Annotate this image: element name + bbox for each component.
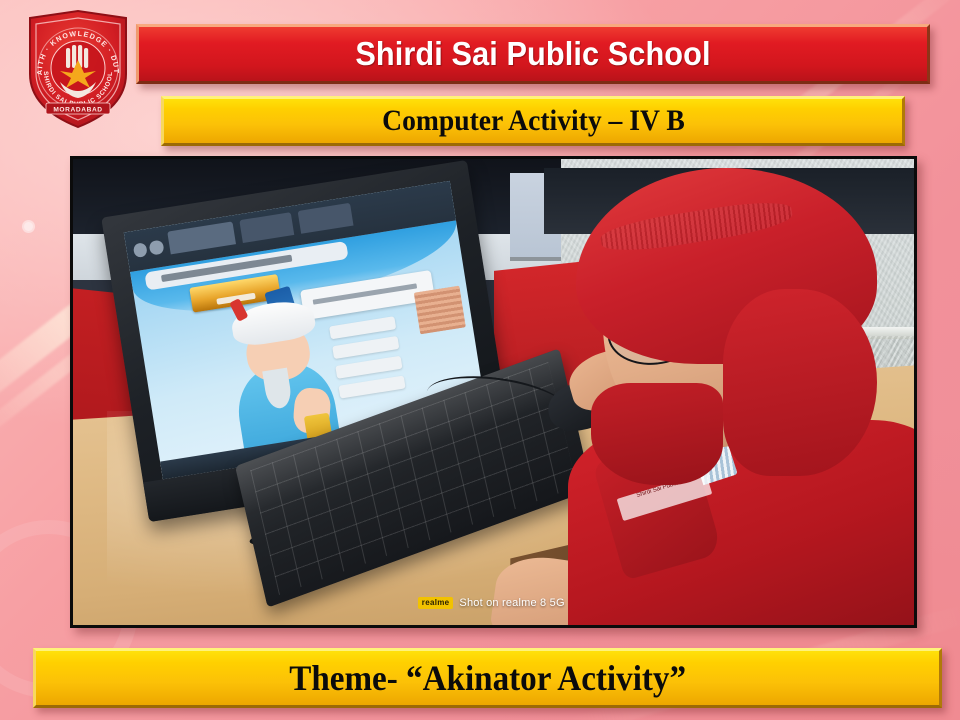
- browser-control-dot: [149, 240, 164, 255]
- activity-title-banner: Computer Activity – IV B: [161, 96, 905, 146]
- activity-photo-frame: DELL Shirdi Sai Public Sc: [70, 156, 917, 628]
- crest-city-text: MORADABAD: [53, 107, 102, 114]
- browser-tab: [168, 221, 237, 254]
- background-dot-decoration: [24, 222, 33, 231]
- browser-control-dot: [133, 242, 148, 257]
- activity-title-text: Computer Activity – IV B: [382, 104, 685, 138]
- realme-badge: realme: [418, 597, 454, 609]
- browser-tab: [298, 203, 354, 234]
- beanie-ribbed-band: [598, 196, 794, 257]
- browser-tab: [239, 212, 295, 243]
- realme-watermark-text: Shot on realme 8 5G: [459, 597, 564, 609]
- beanie-side-flap: [723, 289, 878, 475]
- school-name-banner: Shirdi Sai Public School: [136, 24, 930, 84]
- realme-watermark: realme Shot on realme 8 5G: [418, 597, 565, 609]
- theme-banner: Theme- “Akinator Activity”: [33, 648, 942, 708]
- school-name-text: Shirdi Sai Public School: [355, 35, 710, 73]
- theme-text: Theme- “Akinator Activity”: [289, 657, 686, 699]
- school-crest-logo: FAITH · KNOWLEDGE · DUTY SHIRDI SAI PUBL…: [22, 8, 134, 130]
- slide-canvas: FAITH · KNOWLEDGE · DUTY SHIRDI SAI PUBL…: [0, 0, 960, 720]
- classroom-photo: DELL Shirdi Sai Public Sc: [73, 159, 914, 625]
- student-neck-scarf: [591, 383, 723, 486]
- photo-student: Shirdi Sai Public Sc: [552, 159, 914, 625]
- akinator-sidebar-image: [414, 286, 466, 335]
